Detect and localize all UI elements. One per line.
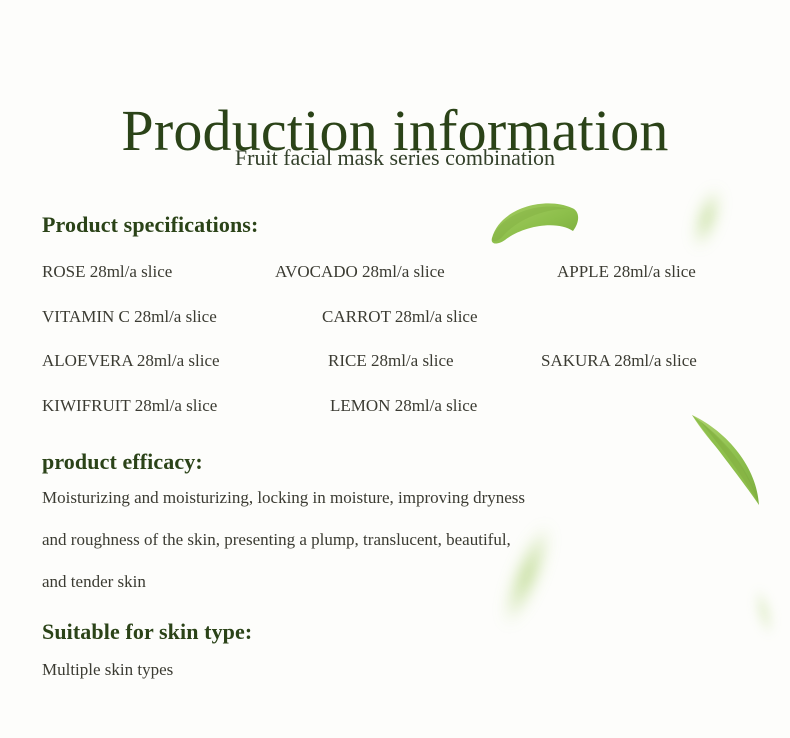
spec-row: ALOEVERA 28ml/a slice RICE 28ml/a slice …: [0, 351, 790, 373]
section-heading-efficacy: product efficacy:: [42, 449, 203, 475]
spec-item: KIWIFRUIT 28ml/a slice: [42, 396, 217, 416]
spec-item: RICE 28ml/a slice: [328, 351, 454, 371]
section-heading-skin-type: Suitable for skin type:: [42, 619, 252, 645]
spec-item: ALOEVERA 28ml/a slice: [42, 351, 220, 371]
page-subtitle: Fruit facial mask series combination: [0, 145, 790, 171]
spec-item: ROSE 28ml/a slice: [42, 262, 172, 282]
efficacy-text-line: and roughness of the skin, presenting a …: [42, 529, 511, 551]
spec-item: LEMON 28ml/a slice: [330, 396, 477, 416]
spec-row: KIWIFRUIT 28ml/a slice LEMON 28ml/a slic…: [0, 396, 790, 418]
efficacy-text-line: and tender skin: [42, 571, 146, 593]
spec-row: ROSE 28ml/a slice AVOCADO 28ml/a slice A…: [0, 262, 790, 284]
skin-type-text-line: Multiple skin types: [42, 659, 173, 681]
spec-item: VITAMIN C 28ml/a slice: [42, 307, 217, 327]
spec-item: AVOCADO 28ml/a slice: [275, 262, 445, 282]
product-info-page: Production information Fruit facial mask…: [0, 0, 790, 738]
spec-item: APPLE 28ml/a slice: [557, 262, 696, 282]
efficacy-text-line: Moisturizing and moisturizing, locking i…: [42, 487, 525, 509]
spec-row: VITAMIN C 28ml/a slice CARROT 28ml/a sli…: [0, 307, 790, 329]
spec-item: CARROT 28ml/a slice: [322, 307, 478, 327]
content-layer: Production information Fruit facial mask…: [0, 0, 790, 738]
spec-item: SAKURA 28ml/a slice: [541, 351, 697, 371]
section-heading-specifications: Product specifications:: [42, 212, 258, 238]
